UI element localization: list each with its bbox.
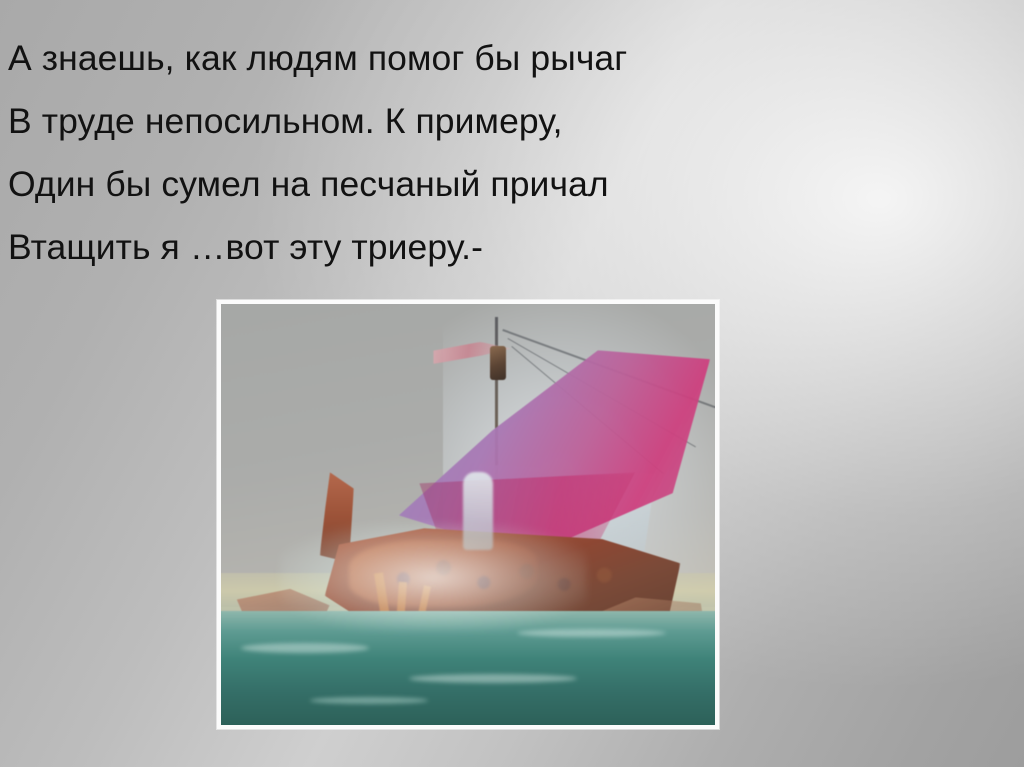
wave-crest	[517, 629, 665, 637]
ship-masthead-lantern	[490, 346, 506, 380]
verse-line-1: А знаешь, как людям помог бы рычаг	[8, 27, 988, 90]
verse-line-4: Втащить я …вот эту триеру.-	[8, 216, 988, 279]
wave-crest	[409, 674, 577, 683]
sea-foam	[280, 523, 586, 632]
ship-illustration	[221, 304, 715, 725]
verse-text-block: А знаешь, как людям помог бы рычаг В тру…	[8, 27, 988, 279]
verse-line-3: Один бы сумел на песчаный причал	[8, 153, 988, 216]
verse-line-2: В труде непосильном. К примеру,	[8, 90, 988, 153]
presentation-slide: А знаешь, как людям помог бы рычаг В тру…	[0, 0, 1024, 767]
ship-illustration-frame	[217, 300, 719, 729]
wave-crest	[310, 697, 429, 704]
